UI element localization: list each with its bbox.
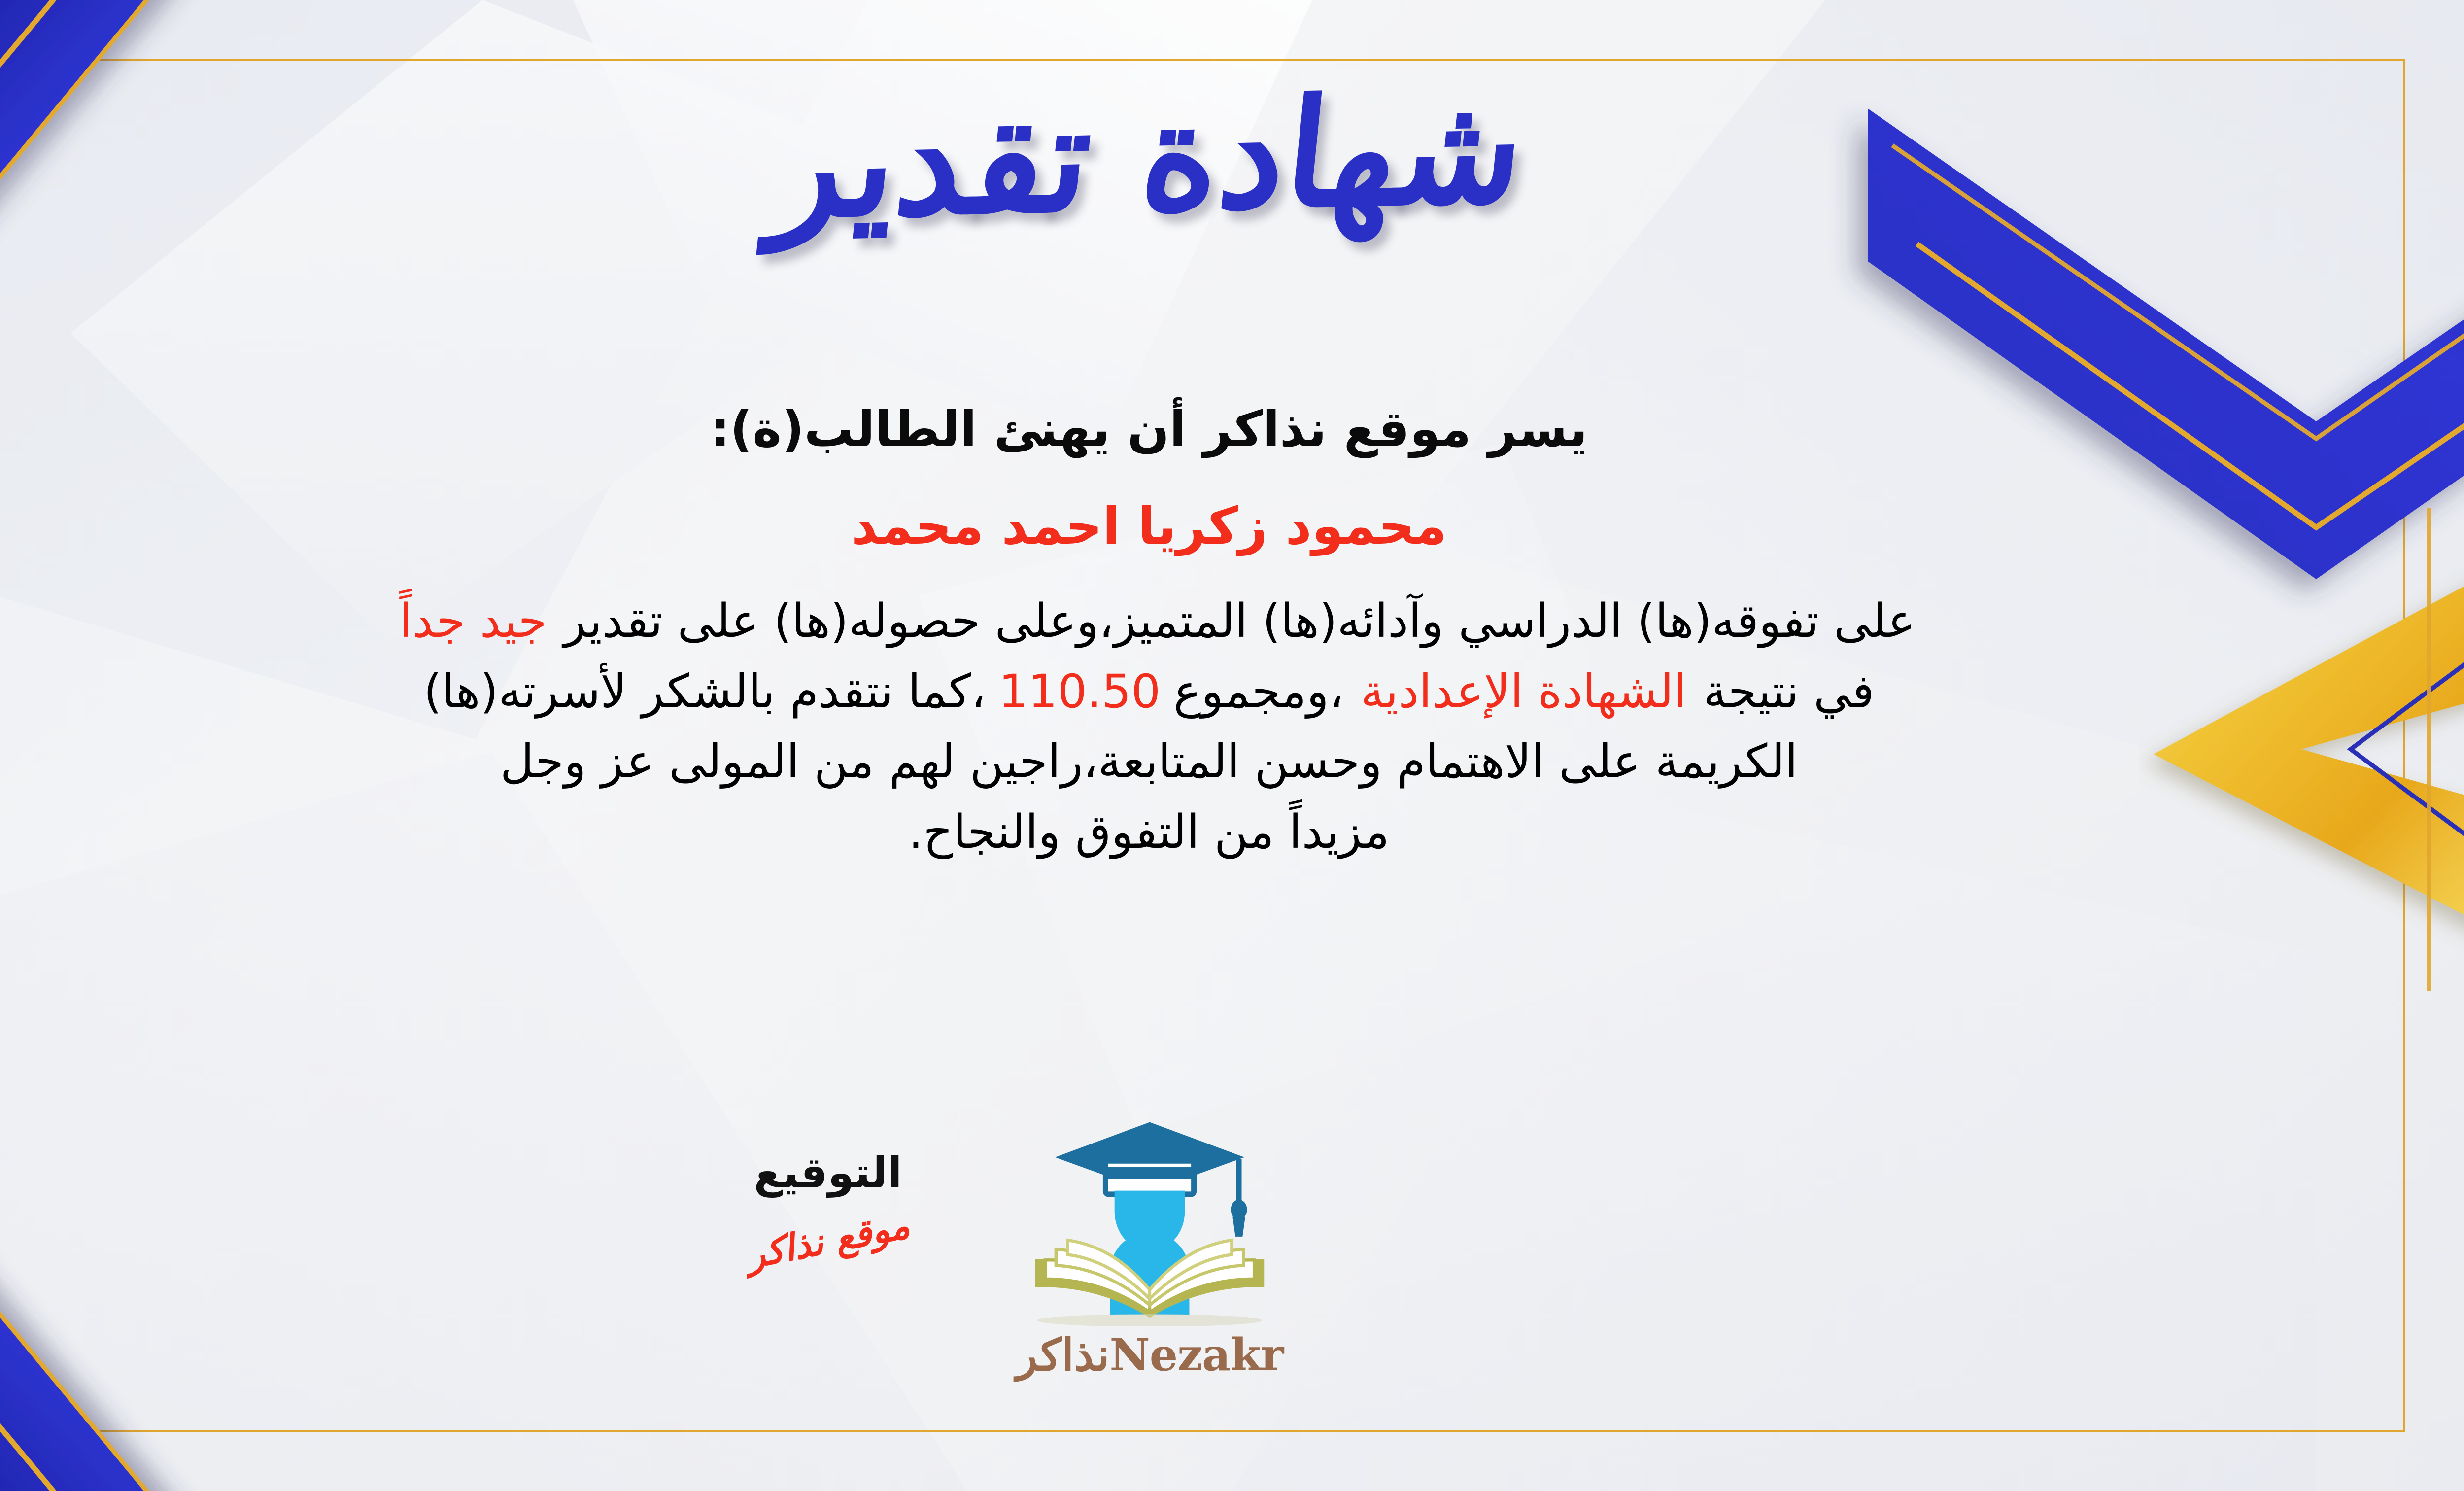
certificate-name: الشهادة الإعدادية [1344,657,1703,728]
citation-line-1-text: على تفوقه(ها) الدراسي وآدائه(ها) المتميز… [564,594,1916,648]
citation-line-3: الكريمة على الاهتمام وحسن المتابعة،راجين… [0,727,2301,798]
logo-wordmark: Nezakrنذاكر [933,1329,1367,1381]
citation-line-2: في نتيجةالشهادة الإعدادية،ومجموع110.50،ك… [0,657,2301,728]
graduate-open-book-icon [992,1114,1307,1326]
intro-line: يسر موقع نذاكر أن يهنئ الطالب(ة): [0,394,2301,464]
citation-line-4: مزيداً من التفوق والنجاح. [0,798,2301,868]
student-name: محمود زكريا احمد محمد [0,490,2301,563]
brand-logo: Nezakrنذاكر [933,1114,1367,1381]
certificate-canvas: شهادة تقدير يسر موقع نذاكر أن يهنئ الطال… [0,0,2464,1491]
citation-line-2-prefix: في نتيجة [1703,665,1874,719]
logo-name-latin: Nezakr [1110,1329,1284,1381]
certificate-title-area: شهادة تقدير [0,74,2464,240]
citation-line-1: على تفوقه(ها) الدراسي وآدائه(ها) المتميز… [0,587,2301,657]
certificate-body: يسر موقع نذاكر أن يهنئ الطالب(ة): محمود … [0,394,2301,868]
logo-name-arabic: نذاكر [1016,1329,1110,1381]
citation-line-2-suffix: ،كما نتقدم بالشكر لأسرته(ها) [424,665,986,719]
total-score: 110.50 [986,657,1173,728]
citation-line-2-mid: ،ومجموع [1173,665,1344,719]
page-title: شهادة تقدير [766,66,1533,247]
citation-paragraph: على تفوقه(ها) الدراسي وآدائه(ها) المتميز… [0,587,2301,868]
grade-value: جيد جداً [382,587,563,657]
